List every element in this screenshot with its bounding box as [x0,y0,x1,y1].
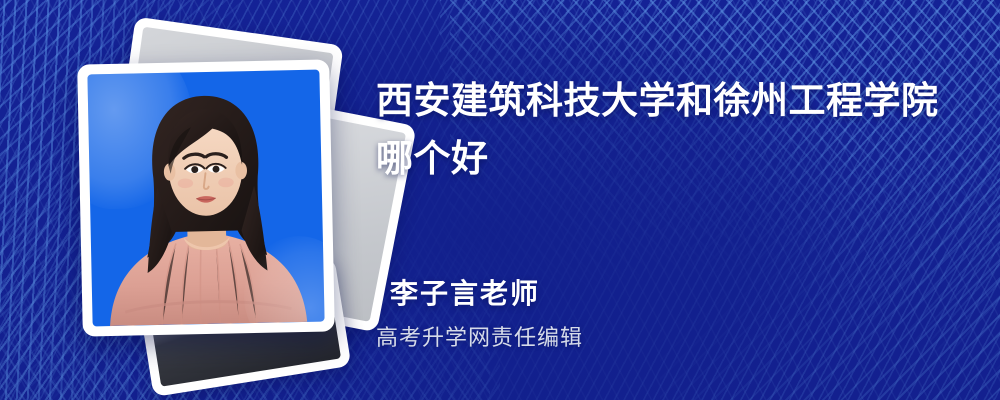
author-photo-card [77,59,335,336]
author-name: 李子言老师 [390,272,540,312]
cover-text-column: 西安建筑科技大学和徐州工程学院 哪个好 李子言老师 高考升学网责任编辑 [376,0,976,400]
author-role: 高考升学网责任编辑 [376,320,583,352]
article-title: 西安建筑科技大学和徐州工程学院 哪个好 [376,72,956,188]
photo-card-stack [52,24,352,374]
author-photo [87,70,324,327]
article-cover-banner: 西安建筑科技大学和徐州工程学院 哪个好 李子言老师 高考升学网责任编辑 [0,0,1000,400]
author-portrait-illustration [87,70,324,327]
